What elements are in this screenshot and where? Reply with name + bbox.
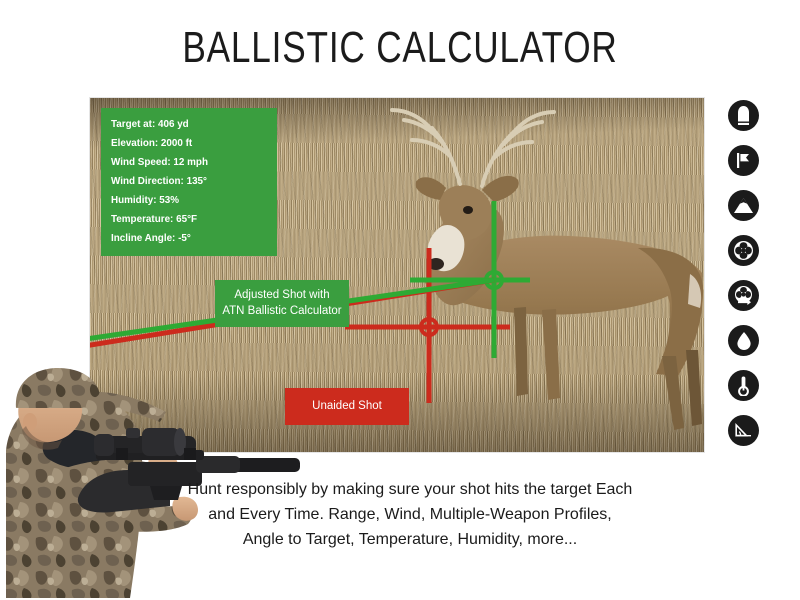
data-row: Temperature: 65°F	[111, 210, 258, 229]
data-value: 12 mph	[173, 156, 208, 168]
adjusted-shot-callout: Adjusted Shot with ATN Ballistic Calcula…	[215, 280, 349, 327]
page-title: BALLISTIC CALCULATOR	[80, 22, 720, 74]
adjusted-shot-callout-line2: ATN Ballistic Calculator	[219, 303, 345, 319]
unaided-shot-callout: Unaided Shot	[285, 388, 409, 425]
data-label: Humidity:	[111, 194, 157, 206]
hunter-with-rifle	[0, 330, 300, 600]
data-value: 53%	[159, 194, 179, 206]
data-row: Humidity: 53%	[111, 191, 258, 210]
data-value: 65°F	[176, 213, 197, 225]
data-value: 2000 ft	[161, 137, 192, 149]
data-label: Target at:	[111, 118, 155, 130]
tagline-line3: Angle to Target, Temperature, Humidity, …	[150, 527, 670, 552]
data-row: Elevation: 2000 ft	[111, 134, 258, 153]
data-label: Temperature:	[111, 213, 173, 225]
data-label: Wind Direction:	[111, 175, 184, 187]
tagline: Hunt responsibly by making sure your sho…	[150, 477, 670, 552]
elevation-mountain-icon[interactable]	[728, 190, 759, 221]
data-label: Elevation:	[111, 137, 158, 149]
bullet-icon[interactable]	[728, 100, 759, 131]
data-label: Incline Angle:	[111, 232, 175, 244]
temperature-thermometer-icon[interactable]	[728, 370, 759, 401]
wind-speed-fan-icon[interactable]	[728, 235, 759, 266]
feature-icon-rail	[728, 100, 768, 460]
unaided-reticle	[345, 248, 510, 403]
data-value: -5°	[178, 232, 191, 244]
incline-angle-icon[interactable]	[728, 415, 759, 446]
unaided-shot-callout-line1: Unaided Shot	[289, 398, 405, 414]
data-row: Wind Speed: 12 mph	[111, 153, 258, 172]
ballistic-data-panel: Target at: 406 yd Elevation: 2000 ft Win…	[101, 108, 277, 256]
tagline-line1: Hunt responsibly by making sure your sho…	[150, 477, 670, 502]
wind-direction-fan-icon[interactable]	[728, 280, 759, 311]
data-row: Target at: 406 yd	[111, 115, 258, 134]
adjusted-shot-callout-line1: Adjusted Shot with	[219, 287, 345, 303]
data-row: Incline Angle: -5°	[111, 229, 258, 248]
data-value: 135°	[187, 175, 207, 187]
humidity-droplet-icon[interactable]	[728, 325, 759, 356]
wind-direction-flag-icon[interactable]	[728, 145, 759, 176]
tagline-line2: and Every Time. Range, Wind, Multiple-We…	[150, 502, 670, 527]
data-row: Wind Direction: 135°	[111, 172, 258, 191]
data-value: 406 yd	[158, 118, 189, 130]
data-label: Wind Speed:	[111, 156, 171, 168]
